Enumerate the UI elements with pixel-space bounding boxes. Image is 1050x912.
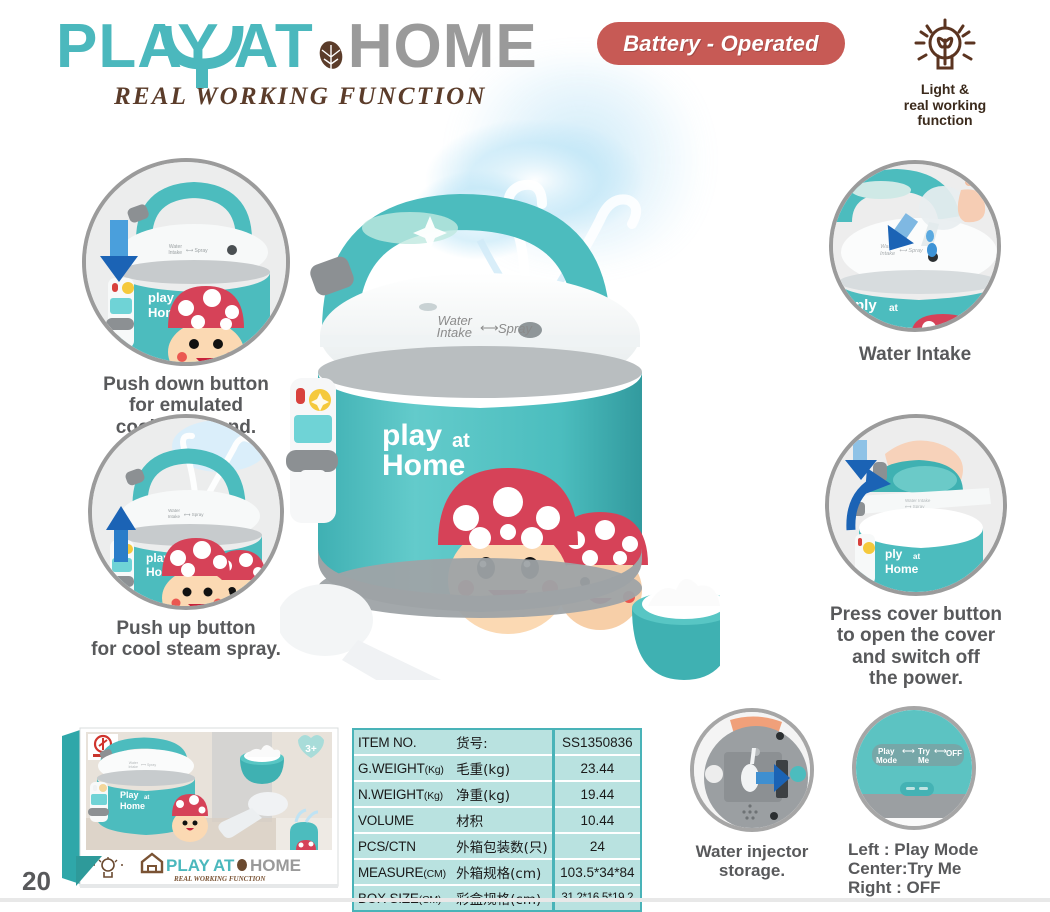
callout-switch-positions: Play Mode ⟷ Try Me ⟷ OFF Left : Play Mod…: [846, 706, 1046, 898]
switch-label-play: Play: [878, 747, 895, 756]
callout-image-injector-storage: [690, 708, 814, 832]
table-row: VOLUME 材积 10.44: [354, 807, 640, 833]
table-row: G.WEIGHT(Kg) 毛重(kg) 23.44: [354, 755, 640, 781]
corner-triangle-decoration: [76, 856, 102, 886]
svg-text:Intake: Intake: [880, 251, 895, 257]
svg-text:at: at: [913, 552, 920, 561]
svg-text:⟷ Spray: ⟷ Spray: [899, 248, 924, 254]
spec-label-text: G.WEIGHT: [358, 761, 425, 776]
hero-product-image: Water Intake ⟷ Spray play at Home: [280, 120, 720, 680]
lightbulb-leaf-icon: [908, 16, 982, 78]
spec-label-en-0: ITEM NO.: [354, 730, 452, 755]
table-row: ITEM NO. 货号: SS1350836: [354, 730, 640, 755]
spec-label-unit: (Kg): [424, 790, 443, 802]
switch-label-off: OFF: [946, 749, 962, 758]
brand-wordmark: PLAYAT HOME: [56, 18, 556, 77]
caption-line: to open the cover: [798, 625, 1034, 646]
svg-text:Intake: Intake: [168, 250, 182, 256]
table-row: PCS/CTN 外箱包装数(只) 24: [354, 833, 640, 859]
spec-value-1: 23.44: [553, 755, 640, 781]
svg-text:⟷: ⟷: [902, 746, 915, 756]
svg-text:play: play: [148, 290, 175, 305]
callout-caption-injector-storage: Water injector storage.: [660, 842, 844, 880]
spec-label-cn-2: 净重(kg): [452, 781, 553, 807]
page-number: 20: [22, 866, 51, 897]
leaf-icon: [316, 22, 346, 56]
box-logo-play: PLAY: [166, 856, 210, 875]
svg-text:at: at: [889, 303, 899, 314]
caption-line: Press cover button: [798, 604, 1034, 625]
caption-line: Right : OFF: [848, 878, 1046, 897]
caption-line: Water Intake: [800, 344, 1030, 365]
caption-line: Left : Play Mode: [848, 840, 1046, 859]
light-feature-caption: Light & real working function: [880, 82, 1010, 129]
svg-text:Mode: Mode: [876, 756, 897, 765]
spec-label-unit: (Kg): [425, 764, 444, 776]
spec-label-text: PCS/CTN: [358, 839, 416, 854]
spec-label-text: VOLUME: [358, 813, 414, 828]
slider-switch: [900, 782, 934, 796]
caption-line: Center:Try Me: [848, 859, 1046, 878]
svg-text:⟷ Spray: ⟷ Spray: [141, 763, 156, 767]
specification-table: ITEM NO. 货号: SS1350836 G.WEIGHT(Kg) 毛重(k…: [352, 728, 642, 912]
caption-line: for cool steam spray.: [58, 639, 314, 660]
callout-caption-water-intake: Water Intake: [800, 344, 1030, 365]
callout-push-up-steam-spray: Water Intake ⟷ Spray play at Home: [58, 414, 314, 661]
caption-line: and switch off: [798, 647, 1034, 668]
svg-text:Me: Me: [918, 756, 930, 765]
callout-caption-switch: Left : Play Mode Center:Try Me Right : O…: [848, 840, 1046, 898]
svg-text:ply: ply: [885, 547, 903, 561]
callout-press-cover-button: Water Intake ⟷ Spray ply at Home: [798, 414, 1034, 690]
spec-label-cn-3: 材积: [452, 807, 553, 833]
spec-label-unit: (CM): [423, 868, 446, 880]
box-cooker-logo-line2: Home: [120, 801, 145, 811]
y-cup-decoration: [158, 22, 248, 88]
caption-line: storage.: [660, 861, 844, 880]
spec-label-en-5: MEASURE(CM): [354, 859, 452, 885]
callout-image-push-up: Water Intake ⟷ Spray play at Home: [88, 414, 284, 610]
spec-label-cn-4: 外箱包装数(只): [452, 833, 553, 859]
spec-label-en-2: N.WEIGHT(Kg): [354, 781, 452, 807]
callout-image-push-down: Water Intake ⟷ Spray play at Home: [82, 158, 290, 366]
svg-text:Intake: Intake: [168, 514, 181, 519]
spec-label-text: N.WEIGHT: [358, 787, 424, 802]
light-function-feature: Light & real working function: [880, 16, 1010, 129]
table-row: N.WEIGHT(Kg) 净重(kg) 19.44: [354, 781, 640, 807]
spec-label-cn-1: 毛重(kg): [452, 755, 553, 781]
brand-logo: PLAYAT HOME REAL WORKING FUNCTION: [56, 18, 556, 111]
svg-text:Water: Water: [168, 508, 180, 513]
spec-value-2: 19.44: [553, 781, 640, 807]
box-tagline: REAL WORKING FUNCTION: [173, 875, 266, 883]
spec-label-en-1: G.WEIGHT(Kg): [354, 755, 452, 781]
age-badge: 3+: [305, 744, 317, 755]
package-box-image: 3+ Water Intake ⟷ Spray Play at Home: [62, 726, 342, 889]
light-feature-line2: real working: [880, 98, 1010, 114]
svg-text:Water Intake: Water Intake: [905, 498, 931, 503]
spec-value-3: 10.44: [553, 807, 640, 833]
spec-value-4: 24: [553, 833, 640, 859]
product-logo-line1: play: [382, 419, 442, 452]
caption-line: the power.: [798, 668, 1034, 689]
spec-value-5: 103.5*34*84: [553, 859, 640, 885]
callout-water-intake: Water Intake ⟷ Spray: [800, 160, 1030, 365]
light-feature-line1: Light &: [880, 82, 1010, 98]
box-cooker-logo-line1: Play: [120, 790, 139, 800]
callout-image-water-intake: Water Intake ⟷ Spray: [829, 160, 1001, 332]
rice-bowl: [632, 579, 720, 680]
spec-label-en-3: VOLUME: [354, 807, 452, 833]
bottom-rule: [0, 898, 1050, 902]
svg-text:⟷ Spray: ⟷ Spray: [186, 248, 208, 254]
spec-label-cn-0: 货号:: [452, 730, 553, 755]
callout-image-press-cover: Water Intake ⟷ Spray ply at Home: [825, 414, 1007, 596]
svg-text:Home: Home: [885, 562, 919, 576]
battery-operated-label: Battery - Operated: [623, 31, 819, 57]
callout-caption-press-cover: Press cover button to open the cover and…: [798, 604, 1034, 690]
switch-label-tryme: Try: [918, 747, 931, 756]
svg-text:me: me: [855, 315, 877, 332]
caption-line: Push up button: [58, 618, 314, 639]
box-logo-at: AT: [213, 856, 235, 875]
svg-text:⟷ Spray: ⟷ Spray: [184, 512, 204, 517]
caption-line: Water injector: [660, 842, 844, 861]
spec-label-text: MEASURE: [358, 865, 423, 880]
callout-caption-push-up: Push up button for cool steam spray.: [58, 618, 314, 661]
svg-text:ply: ply: [855, 297, 877, 314]
lid-label-spray: Spray: [498, 321, 533, 336]
spec-value-0: SS1350836: [553, 730, 640, 755]
caption-line: Push down button: [62, 374, 310, 395]
svg-text:⟷: ⟷: [480, 320, 499, 335]
svg-text:Intake: Intake: [128, 765, 138, 769]
callout-water-injector-storage: Water injector storage.: [660, 708, 844, 880]
light-feature-line3: function: [880, 113, 1010, 129]
callout-image-switch: Play Mode ⟷ Try Me ⟷ OFF: [852, 706, 976, 830]
spec-label-text: ITEM NO.: [358, 735, 416, 750]
box-logo-home: HOME: [250, 856, 301, 875]
callout-push-down-cooking-sound: Water Intake ⟷ Spray play at Home: [62, 158, 310, 438]
brand-home-text: HOME: [348, 12, 538, 81]
spec-label-cn-5: 外箱规格(cm): [452, 859, 553, 885]
svg-text:Intake: Intake: [437, 325, 472, 340]
catalog-page: PLAYAT HOME REAL WORKING FUNCTION Batter…: [0, 0, 1050, 902]
battery-operated-badge: Battery - Operated: [597, 22, 845, 65]
product-logo-line2: Home: [382, 449, 465, 482]
table-row: MEASURE(CM) 外箱规格(cm) 103.5*34*84: [354, 859, 640, 885]
spec-label-en-4: PCS/CTN: [354, 833, 452, 859]
